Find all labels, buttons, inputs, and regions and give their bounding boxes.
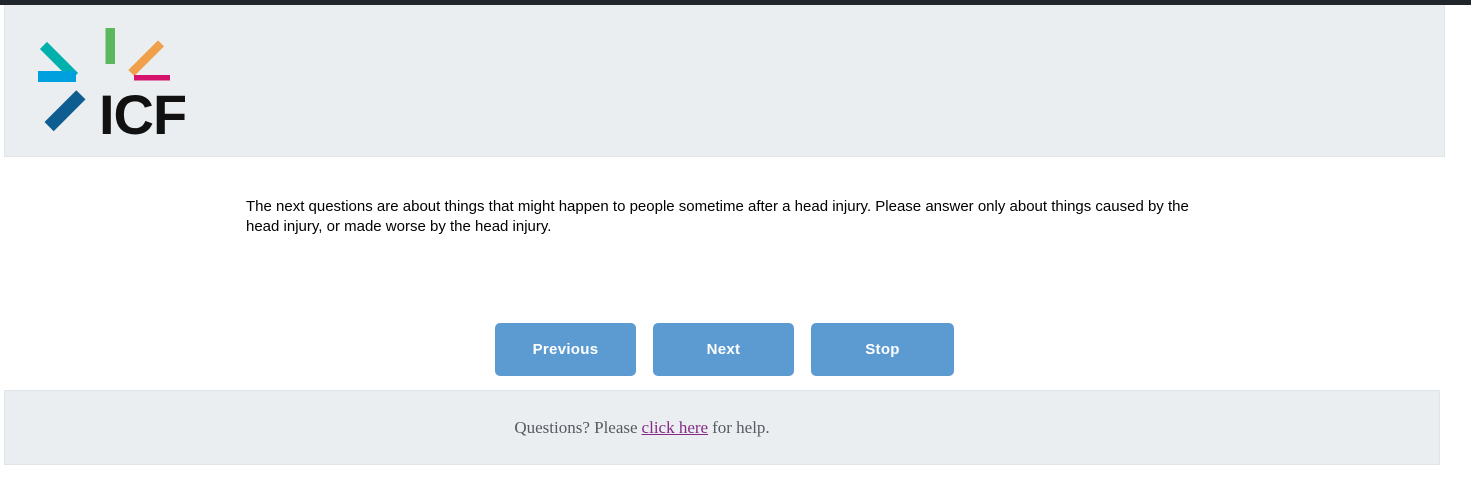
previous-button[interactable]: Previous bbox=[495, 323, 636, 376]
help-link[interactable]: click here bbox=[642, 418, 709, 438]
footer-text-before: Questions? Please bbox=[514, 418, 637, 438]
next-button[interactable]: Next bbox=[653, 323, 794, 376]
logo-ray-pink-icon bbox=[134, 75, 170, 81]
page-header: ICF bbox=[4, 5, 1445, 157]
question-prompt-text: The next questions are about things that… bbox=[246, 197, 1191, 237]
survey-page: ICF The next questions are about things … bbox=[0, 5, 1471, 495]
icf-logo: ICF bbox=[35, 25, 185, 140]
footer-help-text: Questions? Please click here for help. bbox=[5, 391, 1439, 464]
navigation-button-row: Previous Next Stop bbox=[495, 323, 954, 376]
logo-ray-green-icon bbox=[106, 28, 116, 64]
footer-text-after: for help. bbox=[712, 418, 770, 438]
logo-ray-darkblue-icon bbox=[44, 90, 85, 131]
page-footer: Questions? Please click here for help. bbox=[4, 390, 1440, 465]
stop-button[interactable]: Stop bbox=[811, 323, 954, 376]
logo-wordmark: ICF bbox=[99, 83, 185, 140]
logo-ray-lightblue-icon bbox=[38, 71, 76, 82]
main-content: The next questions are about things that… bbox=[0, 157, 1471, 385]
logo-ray-orange-icon bbox=[128, 40, 164, 76]
